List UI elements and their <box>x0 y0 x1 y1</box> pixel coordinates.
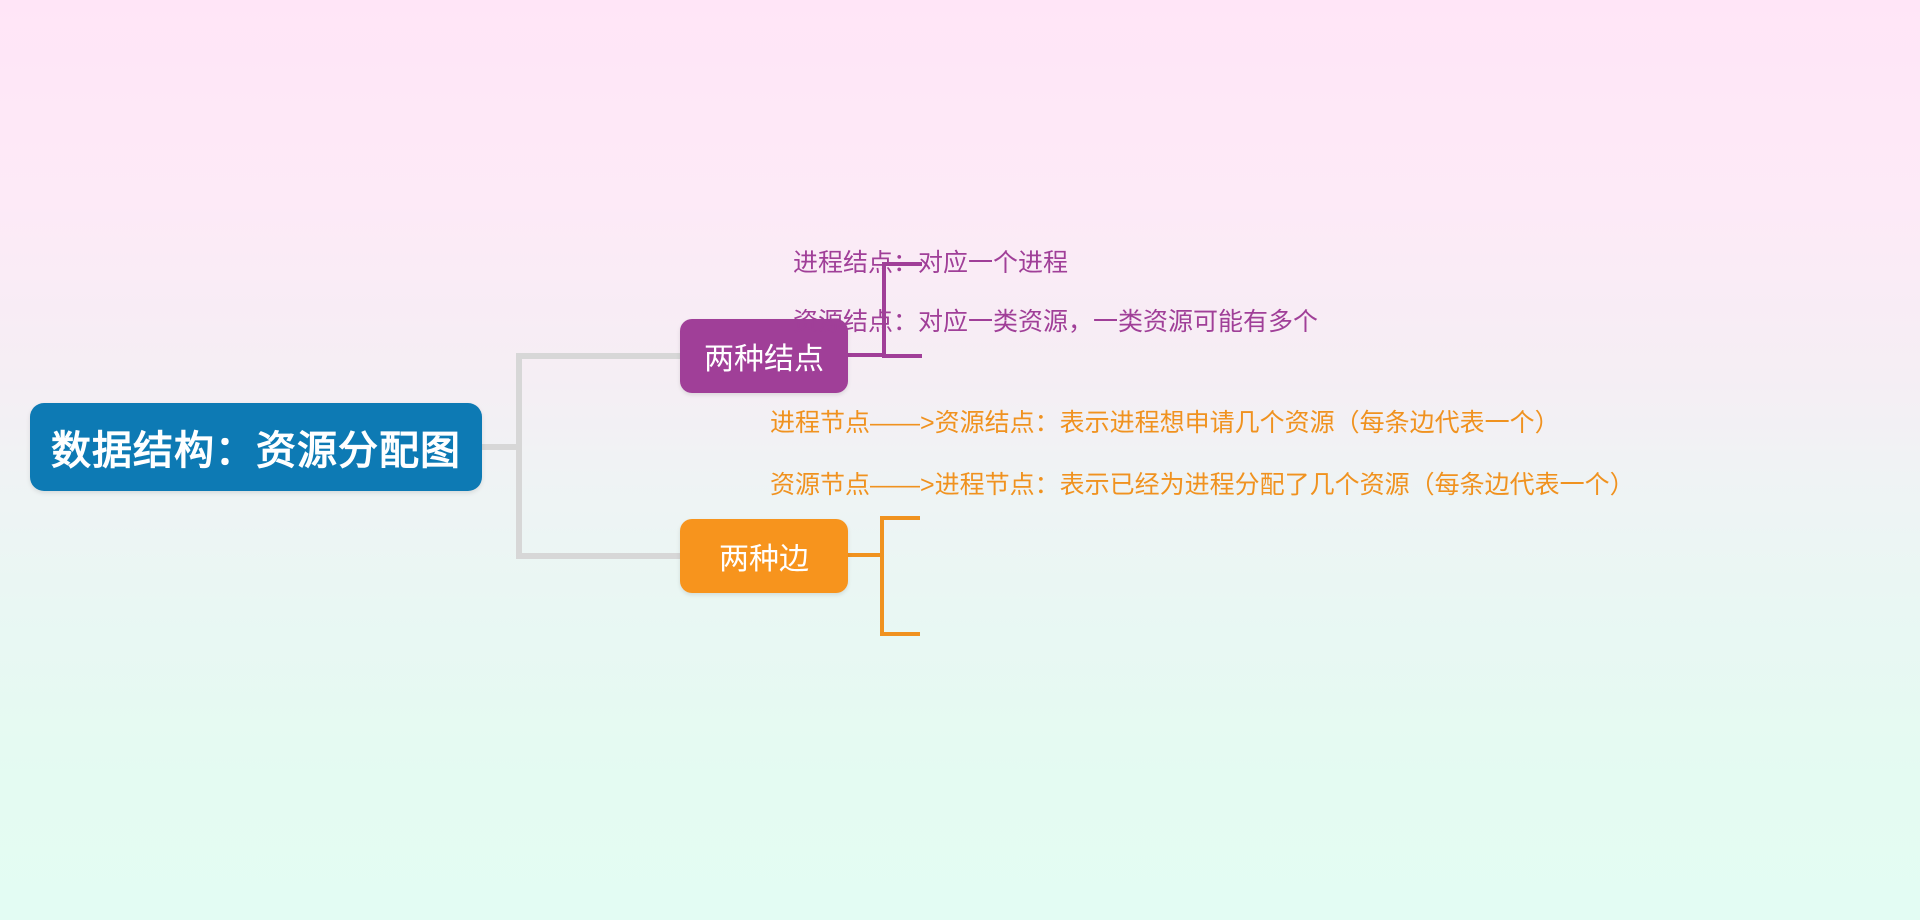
mindmap-canvas: 数据结构：资源分配图 两种结点 进程结点：对应一个进程 资源结点：对应一类资源，… <box>0 0 1920 920</box>
connector-branch-a-stub <box>846 353 884 357</box>
leaf-label-process-node[interactable]: 进程结点：对应一个进程 <box>793 251 1068 276</box>
branch-node-two-kinds-of-edges[interactable]: 两种边 <box>680 519 848 593</box>
root-node[interactable]: 数据结构：资源分配图 <box>30 403 482 491</box>
leaf-label-process-to-resource-edge[interactable]: 进程节点——>资源结点：表示进程想申请几个资源（每条边代表一个） <box>770 411 1560 436</box>
connector-branch-b-stub <box>846 553 882 557</box>
connector-branch-b-arm-bottom <box>880 632 920 636</box>
connector-branch-a-arm-bottom <box>882 354 922 358</box>
connector-root-arm-top <box>516 353 682 359</box>
connector-root-spine <box>516 356 522 556</box>
leaf-label-resource-node[interactable]: 资源结点：对应一类资源，一类资源可能有多个 <box>793 310 1318 335</box>
connector-branch-b-arm-top <box>880 516 920 520</box>
leaf-label-resource-to-process-edge[interactable]: 资源节点——>进程节点：表示已经为进程分配了几个资源（每条边代表一个） <box>770 473 1635 498</box>
connector-root-arm-bottom <box>516 553 682 559</box>
connector-branch-b-spine <box>880 516 884 636</box>
